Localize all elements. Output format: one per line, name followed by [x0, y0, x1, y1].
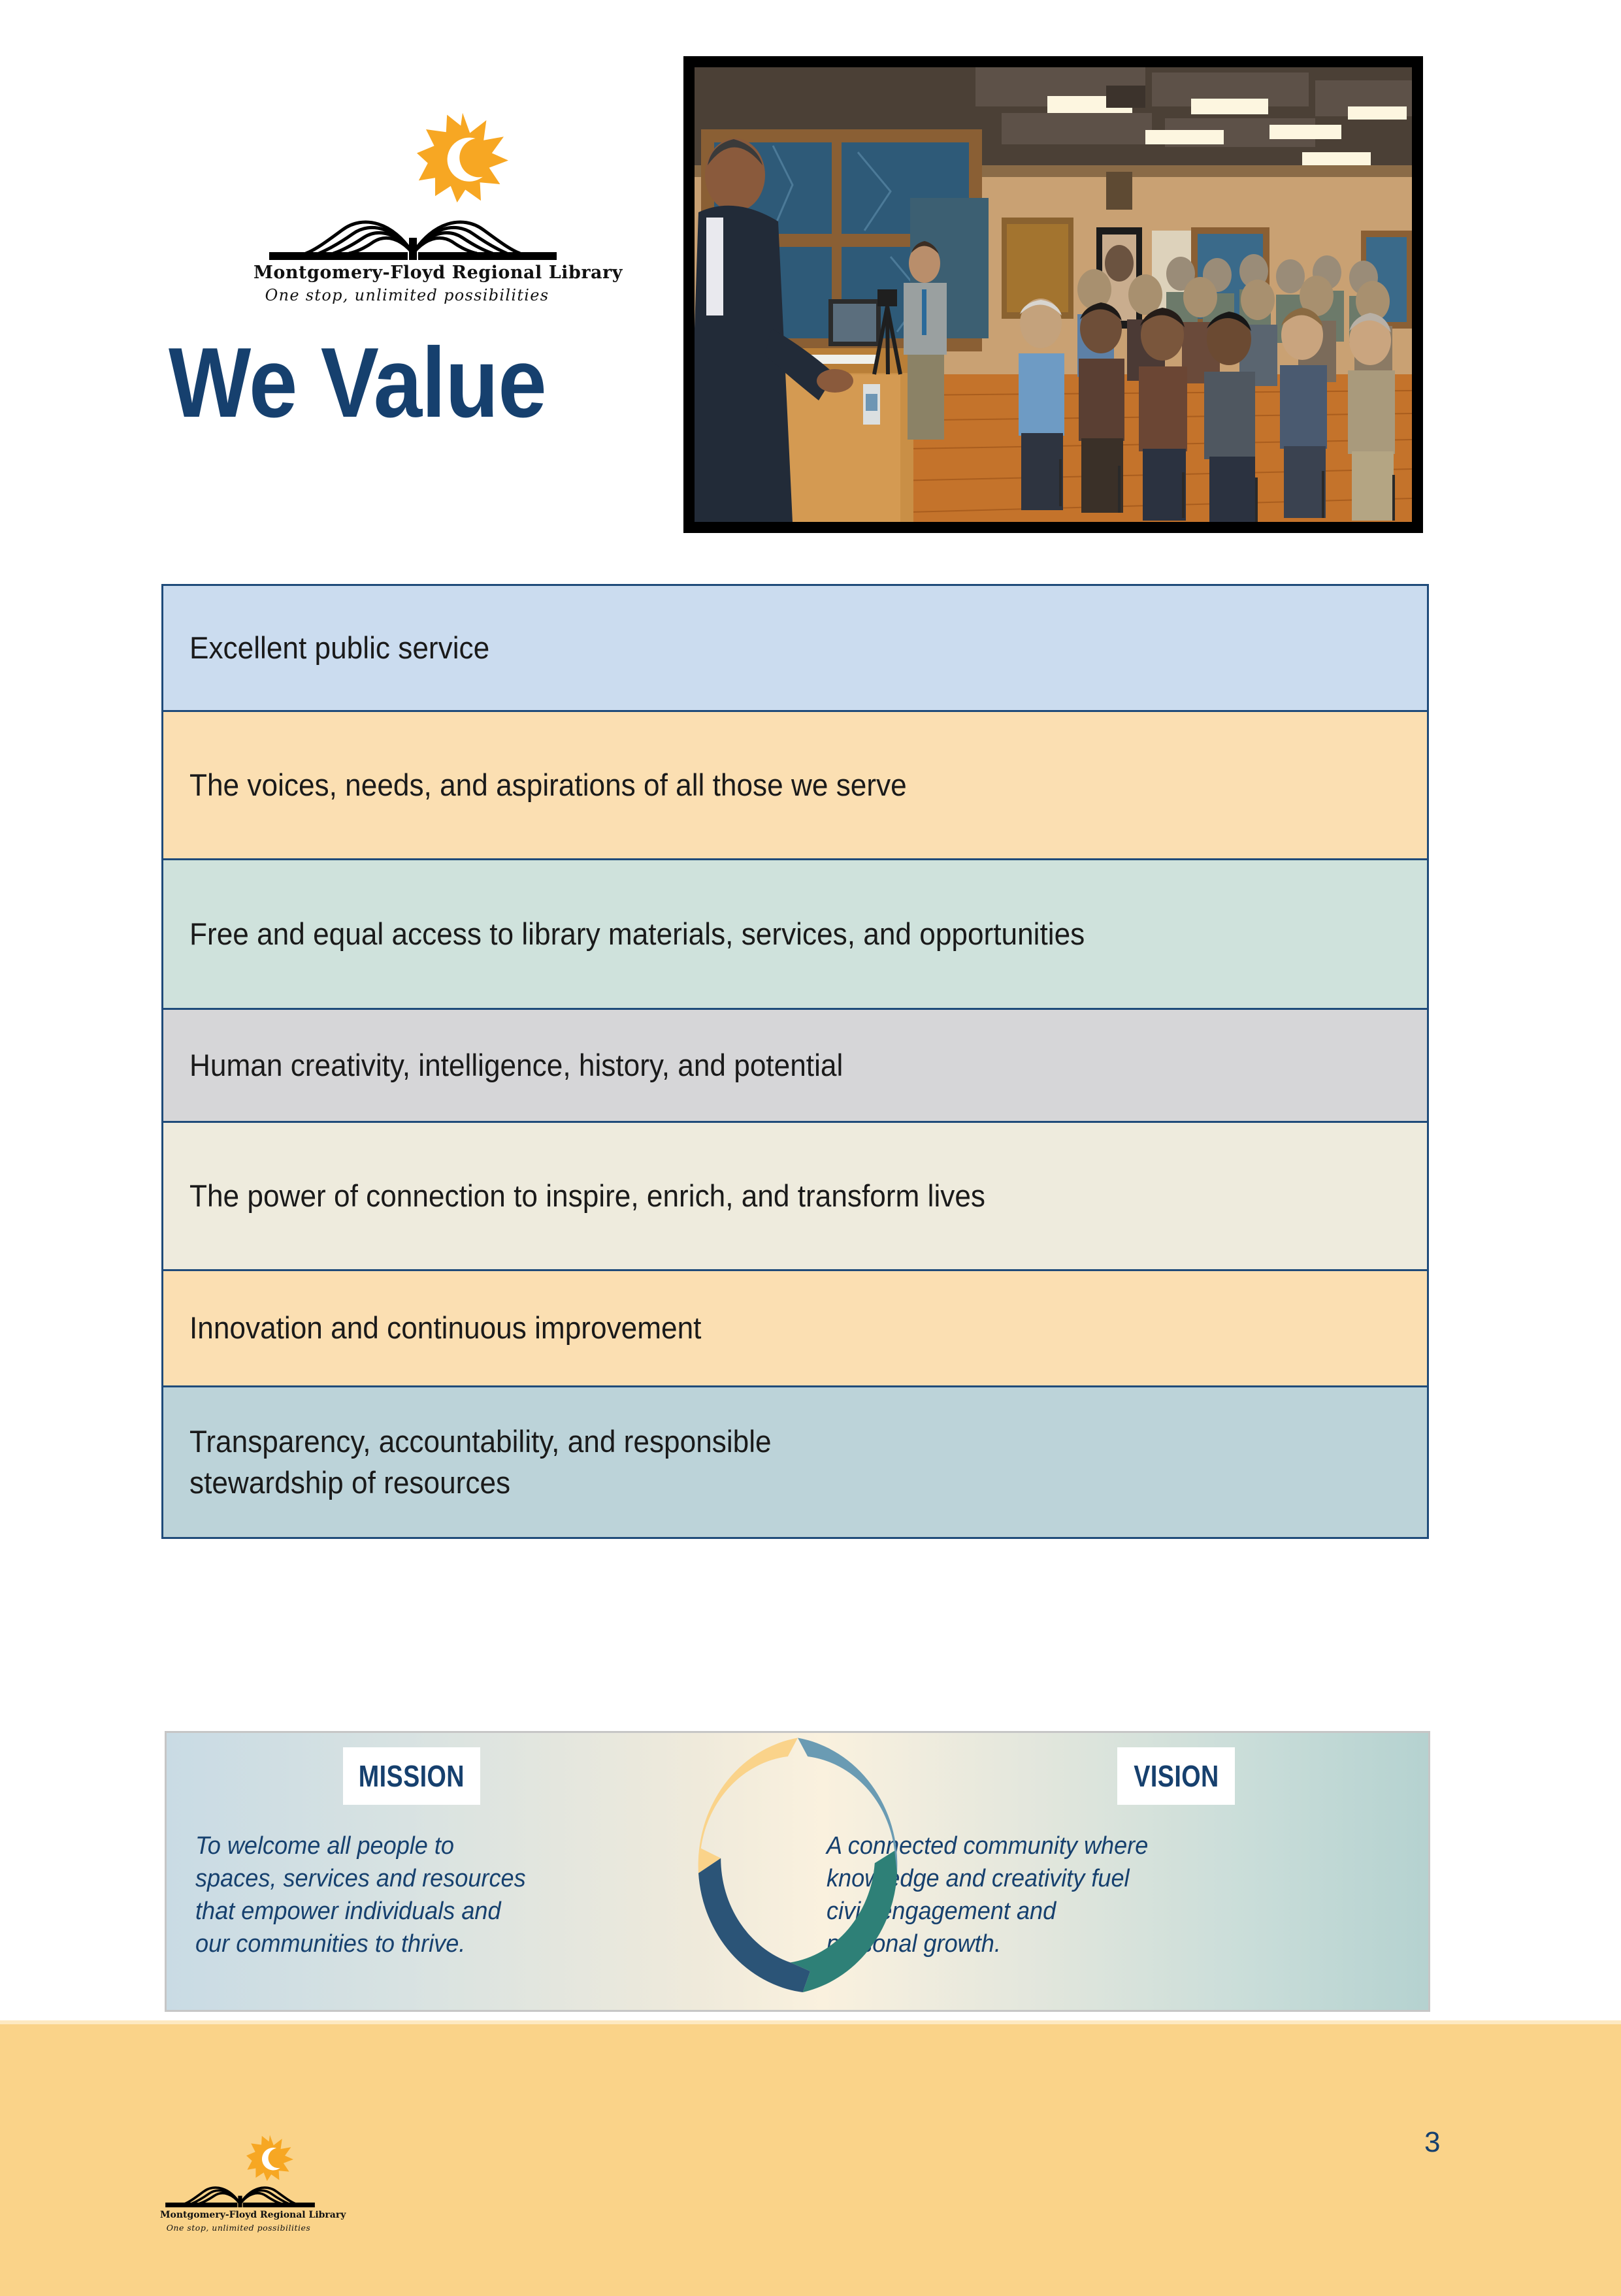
mission-label: MISSION [359, 1758, 465, 1794]
values-table: Excellent public serviceThe voices, need… [161, 584, 1429, 1539]
sun-crescent-icon [417, 111, 508, 202]
value-row: Innovation and continuous improvement [161, 1269, 1429, 1387]
four-segment-cycle-donut-icon [674, 1719, 922, 1993]
value-row: Free and equal access to library materia… [161, 858, 1429, 1010]
vision-label: VISION [1134, 1758, 1219, 1794]
mission-vision-panel: MISSION To welcome all people to spaces,… [165, 1731, 1430, 2012]
value-row-text: The power of connection to inspire, enri… [189, 1176, 985, 1217]
mission-label-box: MISSION [343, 1747, 480, 1805]
value-row: The voices, needs, and aspirations of al… [161, 710, 1429, 860]
open-book-icon [265, 210, 561, 261]
page-footer: Montgomery-Floyd Regional Library One st… [0, 2020, 1621, 2296]
value-row-text: Excellent public service [189, 628, 489, 669]
footer-library-logo: Montgomery-Floyd Regional Library One st… [160, 2134, 317, 2242]
logo-library-name: Montgomery-Floyd Regional Library [254, 263, 561, 283]
value-row-text: Free and equal access to library materia… [189, 914, 1085, 955]
logo-tagline: One stop, unlimited possibilities [254, 286, 561, 304]
footer-logo-name: Montgomery-Floyd Regional Library [160, 2210, 317, 2220]
audience-photo [683, 56, 1423, 533]
vision-label-box: VISION [1117, 1747, 1235, 1805]
value-row-text: The voices, needs, and aspirations of al… [189, 765, 907, 806]
mission-text: To welcome all people to spaces, service… [195, 1830, 605, 1961]
value-row: Transparency, accountability, and respon… [161, 1385, 1429, 1539]
page-header: Montgomery-Floyd Regional Library One st… [0, 0, 1621, 542]
footer-logo-tagline: One stop, unlimited possibilities [160, 2223, 317, 2233]
page-number: 3 [1424, 2126, 1440, 2159]
open-book-icon [163, 2181, 317, 2208]
value-row: Excellent public service [161, 584, 1429, 712]
value-row: The power of connection to inspire, enri… [161, 1121, 1429, 1271]
value-row-text: Transparency, accountability, and respon… [189, 1421, 772, 1503]
page-title: We Value [169, 333, 546, 432]
library-logo: Montgomery-Floyd Regional Library One st… [254, 111, 561, 320]
value-row: Human creativity, intelligence, history,… [161, 1008, 1429, 1123]
value-row-text: Human creativity, intelligence, history,… [189, 1045, 843, 1086]
value-row-text: Innovation and continuous improvement [189, 1308, 701, 1349]
sun-crescent-icon [246, 2134, 293, 2181]
